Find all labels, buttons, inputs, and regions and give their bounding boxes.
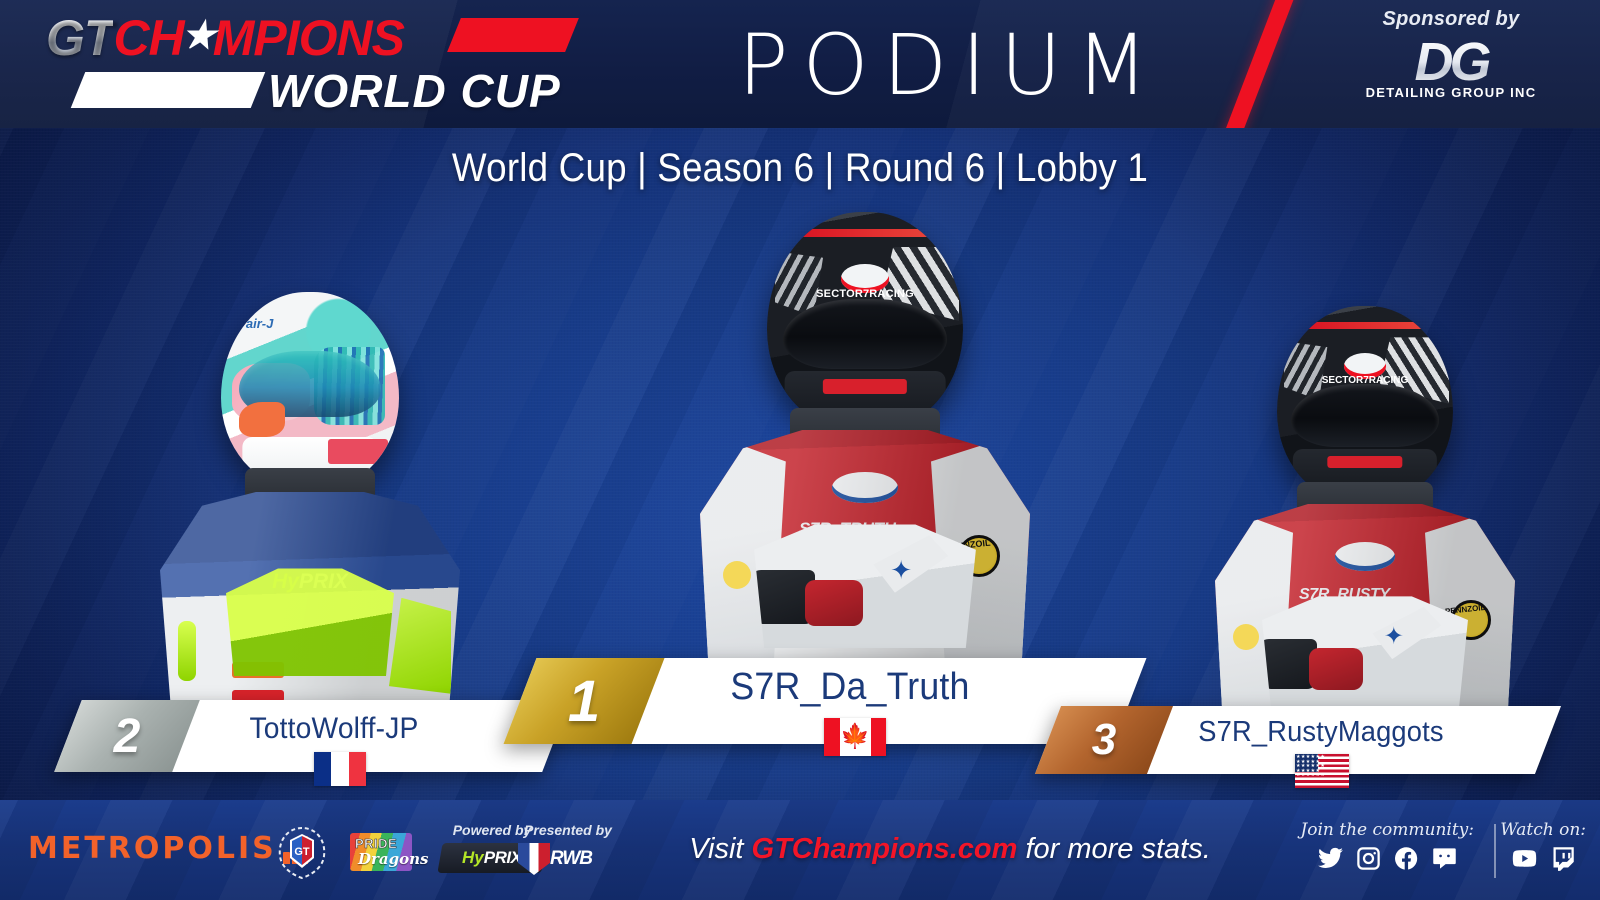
- podium-banner-p2[interactable]: 2 TottoWolff-JP: [68, 700, 556, 772]
- driver-arms-crossed-p1: ✦: [739, 522, 991, 648]
- website-url[interactable]: GTChampions.com: [752, 833, 1018, 865]
- dg-logo-subtitle: DETAILING GROUP INC: [1336, 85, 1566, 100]
- gt-champions-logo: GT CH ★ MPIONS WORLD CUP: [46, 12, 566, 118]
- helmet-sector7racing-text: SECTOR7RACING: [816, 288, 914, 300]
- footer-bar: METROPOLIS GT PRIDE Dragons Powered by: [0, 800, 1600, 900]
- helmet-p3: SECTOR7RACING nuko: [1277, 306, 1453, 504]
- rwb-logo[interactable]: RWB: [516, 843, 620, 875]
- flag-united-states: ★★★★★★★★★★★★★★★★★★★★★★★★★★★★: [1295, 754, 1349, 788]
- svg-text:GT: GT: [294, 846, 310, 858]
- twitch-icon[interactable]: [1549, 845, 1576, 872]
- dragons-label: Dragons: [358, 850, 428, 868]
- logo-champions-rest: MPIONS: [213, 9, 404, 67]
- pride-dragons-logo[interactable]: PRIDE Dragons: [348, 831, 414, 873]
- pride-label: PRIDE: [355, 836, 397, 851]
- instagram-icon[interactable]: [1355, 845, 1382, 872]
- metropolis-logo[interactable]: METROPOLIS: [28, 831, 308, 866]
- page-title: PODIUM: [700, 6, 1200, 124]
- driver-arms-crossed-p3: ✦: [1248, 594, 1482, 712]
- sponsored-by-label: Sponsored by: [1336, 8, 1566, 31]
- visit-prefix: Visit: [689, 833, 751, 865]
- logo-line-1: GT CH ★ MPIONS: [46, 12, 404, 64]
- youtube-icon[interactable]: [1511, 845, 1538, 872]
- driver-avatar-p1: SECTOR7RACING nuko S7R_TRUTH PRIDE PENNZ…: [700, 212, 1030, 692]
- logo-world-cup-text: WORLD CUP: [268, 64, 561, 118]
- driver-avatar-p2: air-J HyPRIX: [160, 292, 460, 712]
- podium-screen: GT CH ★ MPIONS WORLD CUP PODIUM Sponsore…: [0, 0, 1600, 900]
- dg-logo-text: DG: [1336, 33, 1566, 91]
- driver-name-p1: S7R_Da_Truth: [606, 666, 1095, 709]
- driver-name-p2: TottoWolff-JP: [137, 712, 532, 746]
- event-subtitle: World Cup | Season 6 | Round 6 | Lobby 1: [64, 146, 1536, 191]
- driver-name-p3: S7R_RustyMaggots: [1119, 716, 1523, 749]
- podium-banner-p3[interactable]: 3 S7R_RustyMaggots ★★★★★★★★★★★★★★★★★★★★★…: [1048, 706, 1548, 774]
- helmet-p2: air-J: [221, 292, 399, 492]
- helmet-visor-p1: [783, 299, 948, 369]
- dg-logo: DG DETAILING GROUP INC: [1336, 33, 1566, 95]
- logo-red-bar: [447, 18, 579, 52]
- discord-icon[interactable]: [1431, 845, 1458, 872]
- logo-white-bar: [71, 72, 266, 108]
- facebook-icon[interactable]: [1393, 845, 1420, 872]
- presented-by-label: Presented by: [516, 822, 620, 838]
- visit-suffix: for more stats.: [1017, 833, 1210, 865]
- rwb-text: RWB: [550, 848, 592, 870]
- driver-avatar-p3: SECTOR7RACING nuko S7R_RUSTY PRIDE PENNZ…: [1215, 306, 1515, 716]
- social-icon-row: [1300, 845, 1474, 872]
- flag-canada: 🍁: [824, 718, 886, 756]
- sponsor-block: Sponsored by DG DETAILING GROUP INC: [1336, 8, 1566, 95]
- watch-on-block: Watch on:: [1500, 820, 1586, 872]
- twitter-icon[interactable]: [1317, 845, 1344, 872]
- community-block: Join the community:: [1300, 820, 1474, 872]
- team-crest-icon[interactable]: GT: [272, 824, 332, 882]
- logo-line-2: WORLD CUP: [46, 62, 566, 118]
- presented-by-block: Presented by RWB: [516, 822, 620, 875]
- visit-website-text[interactable]: Visit GTChampions.com for more stats.: [620, 833, 1280, 866]
- logo-gt-text: GT: [46, 9, 113, 67]
- metropolis-logo-text: METROPOLIS: [28, 831, 277, 866]
- watch-label: Watch on:: [1500, 820, 1586, 840]
- helmet-sector7racing-text-p3: SECTOR7RACING: [1322, 375, 1409, 386]
- rwb-shield-icon: [518, 843, 550, 875]
- community-label: Join the community:: [1300, 820, 1474, 840]
- header-bar: GT CH ★ MPIONS WORLD CUP PODIUM Sponsore…: [0, 0, 1600, 128]
- helmet-p1: SECTOR7RACING nuko: [767, 212, 963, 434]
- helmet-visor-p3: [1291, 384, 1439, 447]
- footer-divider: [1494, 824, 1496, 878]
- logo-champions-ch: CH: [113, 9, 183, 67]
- logo-star-icon: ★: [182, 13, 215, 58]
- podium-banner-p1[interactable]: 1 S7R_Da_Truth 🍁: [520, 658, 1130, 744]
- hyprix-hy-text: Hy: [462, 848, 484, 867]
- watch-icon-row: [1500, 845, 1586, 872]
- flag-france: [314, 752, 366, 786]
